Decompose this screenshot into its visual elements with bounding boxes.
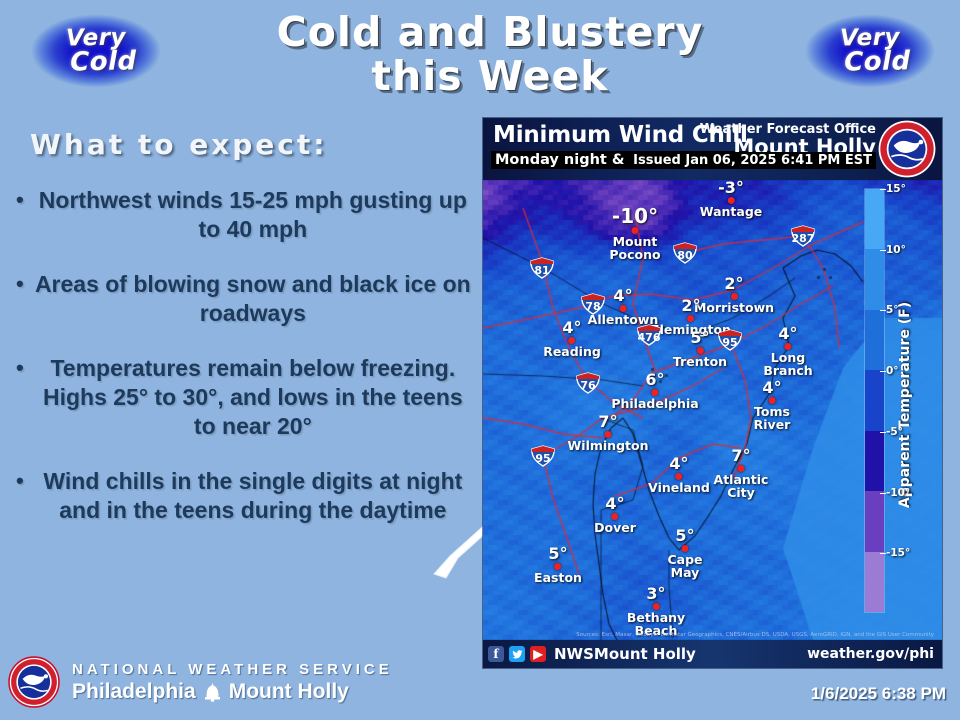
issued-timestamp: Issued Jan 06, 2025 6:41 PM EST <box>629 152 876 169</box>
interstate-number: 287 <box>790 225 816 247</box>
interstate-shield-icon: 287 <box>790 225 816 247</box>
colorbar-band <box>865 249 884 309</box>
interstate-number: 80 <box>672 242 698 264</box>
list-item: • Northwest winds 15-25 mph gusting up t… <box>8 186 476 244</box>
colorbar-tick: 0° <box>886 365 899 377</box>
nws-office-label: Philadelphia Mount Holly <box>72 680 393 704</box>
interstate-shield-icon: 78 <box>580 293 606 315</box>
interstate-number: 95 <box>717 329 743 351</box>
very-cold-line2: Cold <box>844 49 911 75</box>
bullet-text: Temperatures remain below freezing. High… <box>30 354 476 441</box>
colorbar-band <box>865 552 884 612</box>
nws-office-philadelphia: Philadelphia <box>72 680 196 704</box>
bullet-marker: • <box>8 186 30 214</box>
very-cold-badge-left: Very Cold <box>20 8 172 94</box>
nws-seal-icon <box>8 656 60 708</box>
very-cold-badge-right: Very Cold <box>794 8 946 94</box>
facebook-icon[interactable]: f <box>488 646 504 662</box>
social-handle: NWSMount Holly <box>554 645 696 663</box>
interstate-number: 95 <box>530 445 556 467</box>
colorbar-band <box>865 491 884 551</box>
slide-timestamp: 1/6/2025 6:38 PM <box>811 684 946 704</box>
bullet-list: • Northwest winds 15-25 mph gusting up t… <box>8 186 476 551</box>
map-footer: f ▶ NWSMount Holly weather.gov/phi <box>483 640 942 668</box>
colorbar-tick: -10° <box>886 487 910 499</box>
page-title-line1: Cold and Blustery <box>180 10 800 54</box>
list-item: • Areas of blowing snow and black ice on… <box>8 270 476 328</box>
colorbar-tick: 10° <box>886 244 906 256</box>
interstate-shield-icon: 76 <box>575 372 601 394</box>
colorbar-tick: 5° <box>886 304 899 316</box>
map-colorbar: Apparent Temperature (F) 15°10°5°0°-5°-1… <box>858 180 928 630</box>
list-item: • Temperatures remain below freezing. Hi… <box>8 354 476 441</box>
bullet-text: Northwest winds 15-25 mph gusting up to … <box>30 186 476 244</box>
colorbar-tick: 15° <box>886 183 906 195</box>
twitter-icon[interactable] <box>509 646 525 662</box>
interstate-number: 76 <box>575 372 601 394</box>
colorbar-tick: -5° <box>886 426 903 438</box>
bullet-marker: • <box>8 270 30 298</box>
interstate-shield-icon: 81 <box>529 257 555 279</box>
interstate-shield-icon: 476 <box>636 324 662 346</box>
nws-seal-icon <box>878 120 936 178</box>
nws-office-mountholly: Mount Holly <box>229 680 349 704</box>
colorbar-axis-label: Apparent Temperature (F) <box>897 302 913 508</box>
very-cold-line2: Cold <box>70 49 137 75</box>
interstate-shield-icon: 95 <box>530 445 556 467</box>
youtube-icon[interactable]: ▶ <box>530 646 546 662</box>
map-source-attribution: Sources: Esri, Maxar, GeoEye, Earthstar … <box>576 632 934 638</box>
section-heading: What to expect: <box>30 128 327 161</box>
bullet-text: Areas of blowing snow and black ice on r… <box>30 270 476 328</box>
liberty-bell-icon <box>204 682 221 702</box>
interstate-number: 476 <box>636 324 662 346</box>
colorbar-band <box>865 370 884 430</box>
bullet-marker: • <box>8 354 30 382</box>
colorbar-band <box>865 431 884 491</box>
interstate-shield-icon: 95 <box>717 329 743 351</box>
bullet-marker: • <box>8 467 30 495</box>
interstate-number: 81 <box>529 257 555 279</box>
colorbar-gradient <box>864 188 885 613</box>
nws-agency-label: NATIONAL WEATHER SERVICE <box>72 661 393 678</box>
map-url: weather.gov/phi <box>807 646 934 662</box>
map-header: Minimum Wind Chill Monday night & Tuesda… <box>483 118 942 180</box>
interstate-shield-icon: 80 <box>672 242 698 264</box>
colorbar-band <box>865 310 884 370</box>
colorbar-tick: -15° <box>886 547 910 559</box>
wind-chill-map[interactable]: Minimum Wind Chill Monday night & Tuesda… <box>483 118 942 668</box>
colorbar-band <box>865 189 884 249</box>
bullet-text: Wind chills in the single digits at nigh… <box>30 467 476 525</box>
page-title-line2: this Week <box>180 54 800 98</box>
nws-branding: NATIONAL WEATHER SERVICE Philadelphia Mo… <box>8 656 393 708</box>
interstate-number: 78 <box>580 293 606 315</box>
list-item: • Wind chills in the single digits at ni… <box>8 467 476 525</box>
page-title: Cold and Blustery this Week <box>180 10 800 99</box>
